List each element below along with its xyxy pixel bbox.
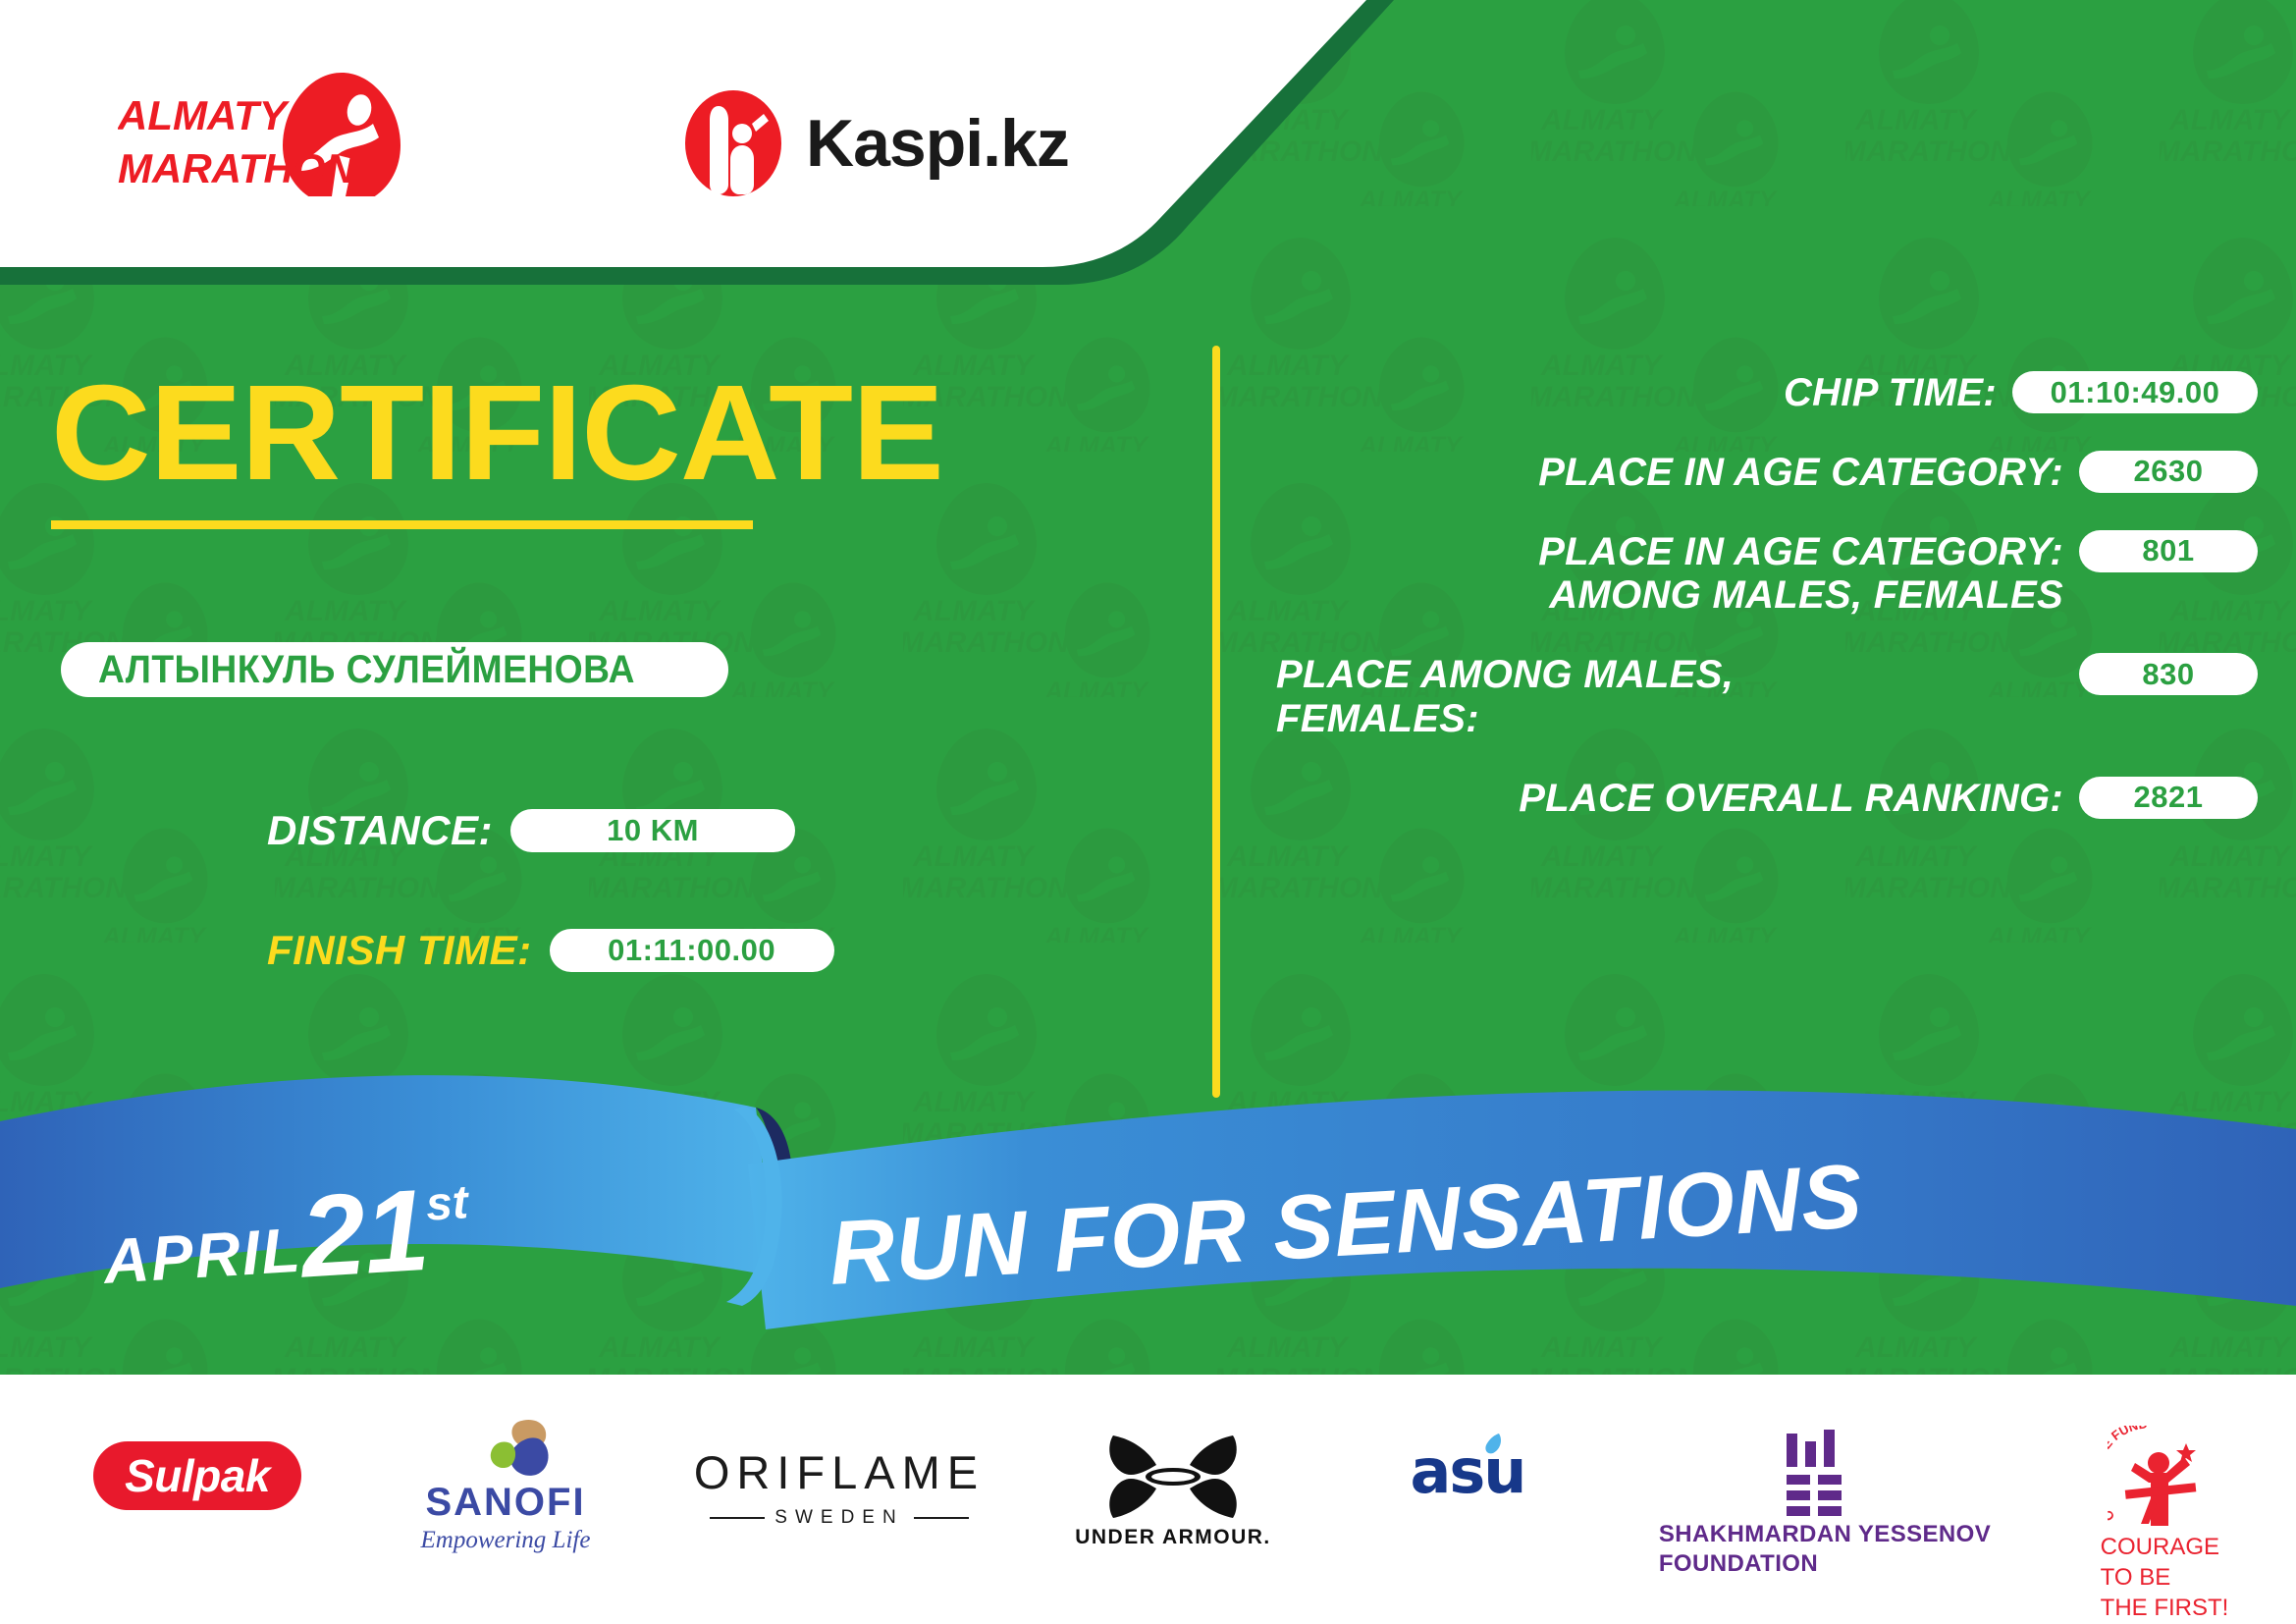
finish-time-value: 01:11:00.00 — [550, 929, 834, 972]
column-divider — [1212, 346, 1220, 1098]
asu-droplet-icon — [1481, 1432, 1507, 1457]
stat-label: PLACE IN AGE CATEGORY: — [1276, 449, 2079, 495]
kaspi-mark-icon — [677, 88, 790, 198]
page-title: CERTIFICATE — [51, 365, 943, 501]
title-underline — [51, 520, 753, 529]
sponsor-sulpak: Sulpak — [93, 1441, 301, 1510]
sponsor-courage-to-be-first: CORPORATE FUND COURAGE TO BE THE FIRST! — [2047, 1426, 2272, 1624]
stat-value: 2630 — [2079, 451, 2258, 493]
oriflame-subtext: SWEDEN — [765, 1507, 913, 1529]
participant-name-value: АЛТЫНКУЛЬ СУЛЕЙМЕНОВА — [98, 648, 635, 692]
certificate-canvas: ALMATY MARATHON ALMATY MARATHON — [0, 0, 2296, 1624]
event-day-suffix: st — [424, 1176, 469, 1231]
logo-text-marathon: MARATHON — [118, 145, 357, 191]
courage-line1: COURAGE — [2101, 1532, 2229, 1562]
stat-row: PLACE IN AGE CATEGORY:2630 — [1276, 449, 2258, 495]
stat-value: 801 — [2079, 530, 2258, 572]
stat-label: PLACE IN AGE CATEGORY:AMONG MALES, FEMAL… — [1276, 528, 2079, 619]
yessenov-line2: FOUNDATION — [1659, 1549, 1991, 1579]
sponsor-yessenov-foundation: SHAKHMARDAN YESSENOV FOUNDATION — [1610, 1430, 2022, 1579]
stat-row: PLACE IN AGE CATEGORY:AMONG MALES, FEMAL… — [1276, 528, 2258, 619]
stat-row: PLACE AMONG MALES,FEMALES:830 — [1276, 651, 2258, 741]
results-stats-list: CHIP TIME:01:10:49.00PLACE IN AGE CATEGO… — [1276, 369, 2258, 854]
courage-line2: TO BE — [2101, 1562, 2229, 1593]
stat-value: 830 — [2079, 653, 2258, 695]
asu-wordmark: asu — [1411, 1435, 1525, 1507]
sponsor-under-armour: UNDER ARMOUR. — [1075, 1432, 1271, 1549]
stat-label: PLACE AMONG MALES,FEMALES: — [1276, 651, 2079, 741]
distance-value: 10 KM — [510, 809, 795, 852]
stat-row: PLACE OVERALL RANKING:2821 — [1276, 775, 2258, 821]
almaty-marathon-logo: ALMATY MARATHON — [118, 69, 412, 196]
kaspi-logo: Kaspi.kz — [677, 88, 1069, 198]
sponsor-sanofi: SANOFI Empowering Life — [393, 1414, 618, 1554]
courage-line3: THE FIRST! — [2101, 1593, 2229, 1623]
distance-label: DISTANCE: — [267, 807, 493, 854]
kaspi-wordmark: Kaspi.kz — [806, 105, 1069, 182]
under-armour-wordmark: UNDER ARMOUR. — [1075, 1526, 1271, 1549]
distance-row: DISTANCE: 10 KM — [267, 805, 795, 856]
stat-value: 01:10:49.00 — [2012, 371, 2258, 413]
event-date: APRIL21st — [99, 1161, 474, 1317]
oriflame-rule-left — [710, 1517, 765, 1519]
event-month: APRIL — [102, 1215, 304, 1297]
oriflame-wordmark: ORIFLAME — [694, 1445, 985, 1499]
sponsor-asu: asu — [1364, 1435, 1571, 1507]
stat-label: PLACE OVERALL RANKING: — [1276, 775, 2079, 821]
finish-time-label: FINISH TIME: — [267, 927, 532, 974]
courage-mark-icon: CORPORATE FUND — [2108, 1426, 2212, 1532]
finish-time-row: FINISH TIME: 01:11:00.00 — [267, 925, 834, 976]
stat-row: CHIP TIME:01:10:49.00 — [1276, 369, 2258, 415]
yessenov-line1: SHAKHMARDAN YESSENOV — [1659, 1520, 1991, 1549]
logo-text-almaty: ALMATY — [118, 92, 291, 138]
sanofi-tagline: Empowering Life — [421, 1527, 591, 1554]
participant-name-field: АЛТЫНКУЛЬ СУЛЕЙМЕНОВА — [61, 642, 728, 697]
sponsor-oriflame: ORIFLAME SWEDEN — [687, 1445, 991, 1529]
under-armour-mark-icon — [1099, 1432, 1247, 1522]
sponsors-strip: Sulpak SANOFI Empowering Life ORIFLAME S… — [0, 1404, 2296, 1624]
stat-label: CHIP TIME: — [1276, 369, 2012, 415]
stat-value: 2821 — [2079, 777, 2258, 819]
event-day: 21 — [297, 1165, 432, 1303]
oriflame-rule-right — [914, 1517, 969, 1519]
yessenov-mark-icon — [1781, 1430, 1851, 1520]
sanofi-mark-icon — [393, 1414, 618, 1479]
sanofi-wordmark: SANOFI — [425, 1481, 585, 1525]
